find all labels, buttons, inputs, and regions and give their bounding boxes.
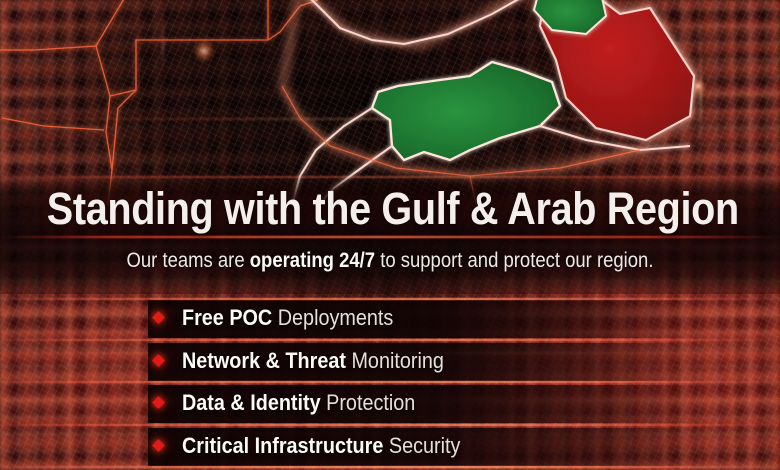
subtitle-suffix: to support and protect our region. <box>375 249 653 272</box>
list-item-label: Network & Threat Monitoring <box>182 349 444 373</box>
list-item-divider <box>0 298 780 300</box>
subtitle-prefix: Our teams are <box>127 249 250 272</box>
service-list: Free POC Deployments Network & Threat Mo… <box>0 298 780 468</box>
list-item-label-bold: Critical Infrastructure <box>182 433 383 458</box>
headline-underline-glow <box>0 236 780 238</box>
list-item-label: Critical Infrastructure Security <box>182 434 460 458</box>
cyber-security-promo-poster: Standing with the Gulf & Arab Region Our… <box>0 0 780 470</box>
list-item-label: Free POC Deployments <box>182 306 393 330</box>
list-item-divider <box>0 466 780 468</box>
list-item-label-rest: Monitoring <box>346 348 444 373</box>
list-item-label-bold: Free POC <box>182 305 272 330</box>
list-item[interactable]: Data & Identity Protection <box>0 383 780 426</box>
list-item-label: Data & Identity Protection <box>182 391 415 415</box>
band-top-glow <box>0 176 780 178</box>
list-item-label-rest: Protection <box>321 390 416 415</box>
list-item-label-rest: Security <box>383 433 460 458</box>
page-title: Standing with the Gulf & Arab Region <box>47 186 733 231</box>
highlighted-region-main <box>372 62 560 160</box>
subtitle: Our teams are operating 24/7 to support … <box>47 250 733 271</box>
list-item-label-rest: Deployments <box>272 305 393 330</box>
list-item-label-bold: Network & Threat <box>182 348 346 373</box>
gulf-arab-region-map <box>0 0 780 200</box>
list-item-label-bold: Data & Identity <box>182 390 321 415</box>
list-item[interactable]: Free POC Deployments <box>0 298 780 341</box>
list-item[interactable]: Network & Threat Monitoring <box>0 341 780 384</box>
subtitle-emphasis: operating 24/7 <box>250 249 375 272</box>
list-item[interactable]: Critical Infrastructure Security <box>0 426 780 469</box>
